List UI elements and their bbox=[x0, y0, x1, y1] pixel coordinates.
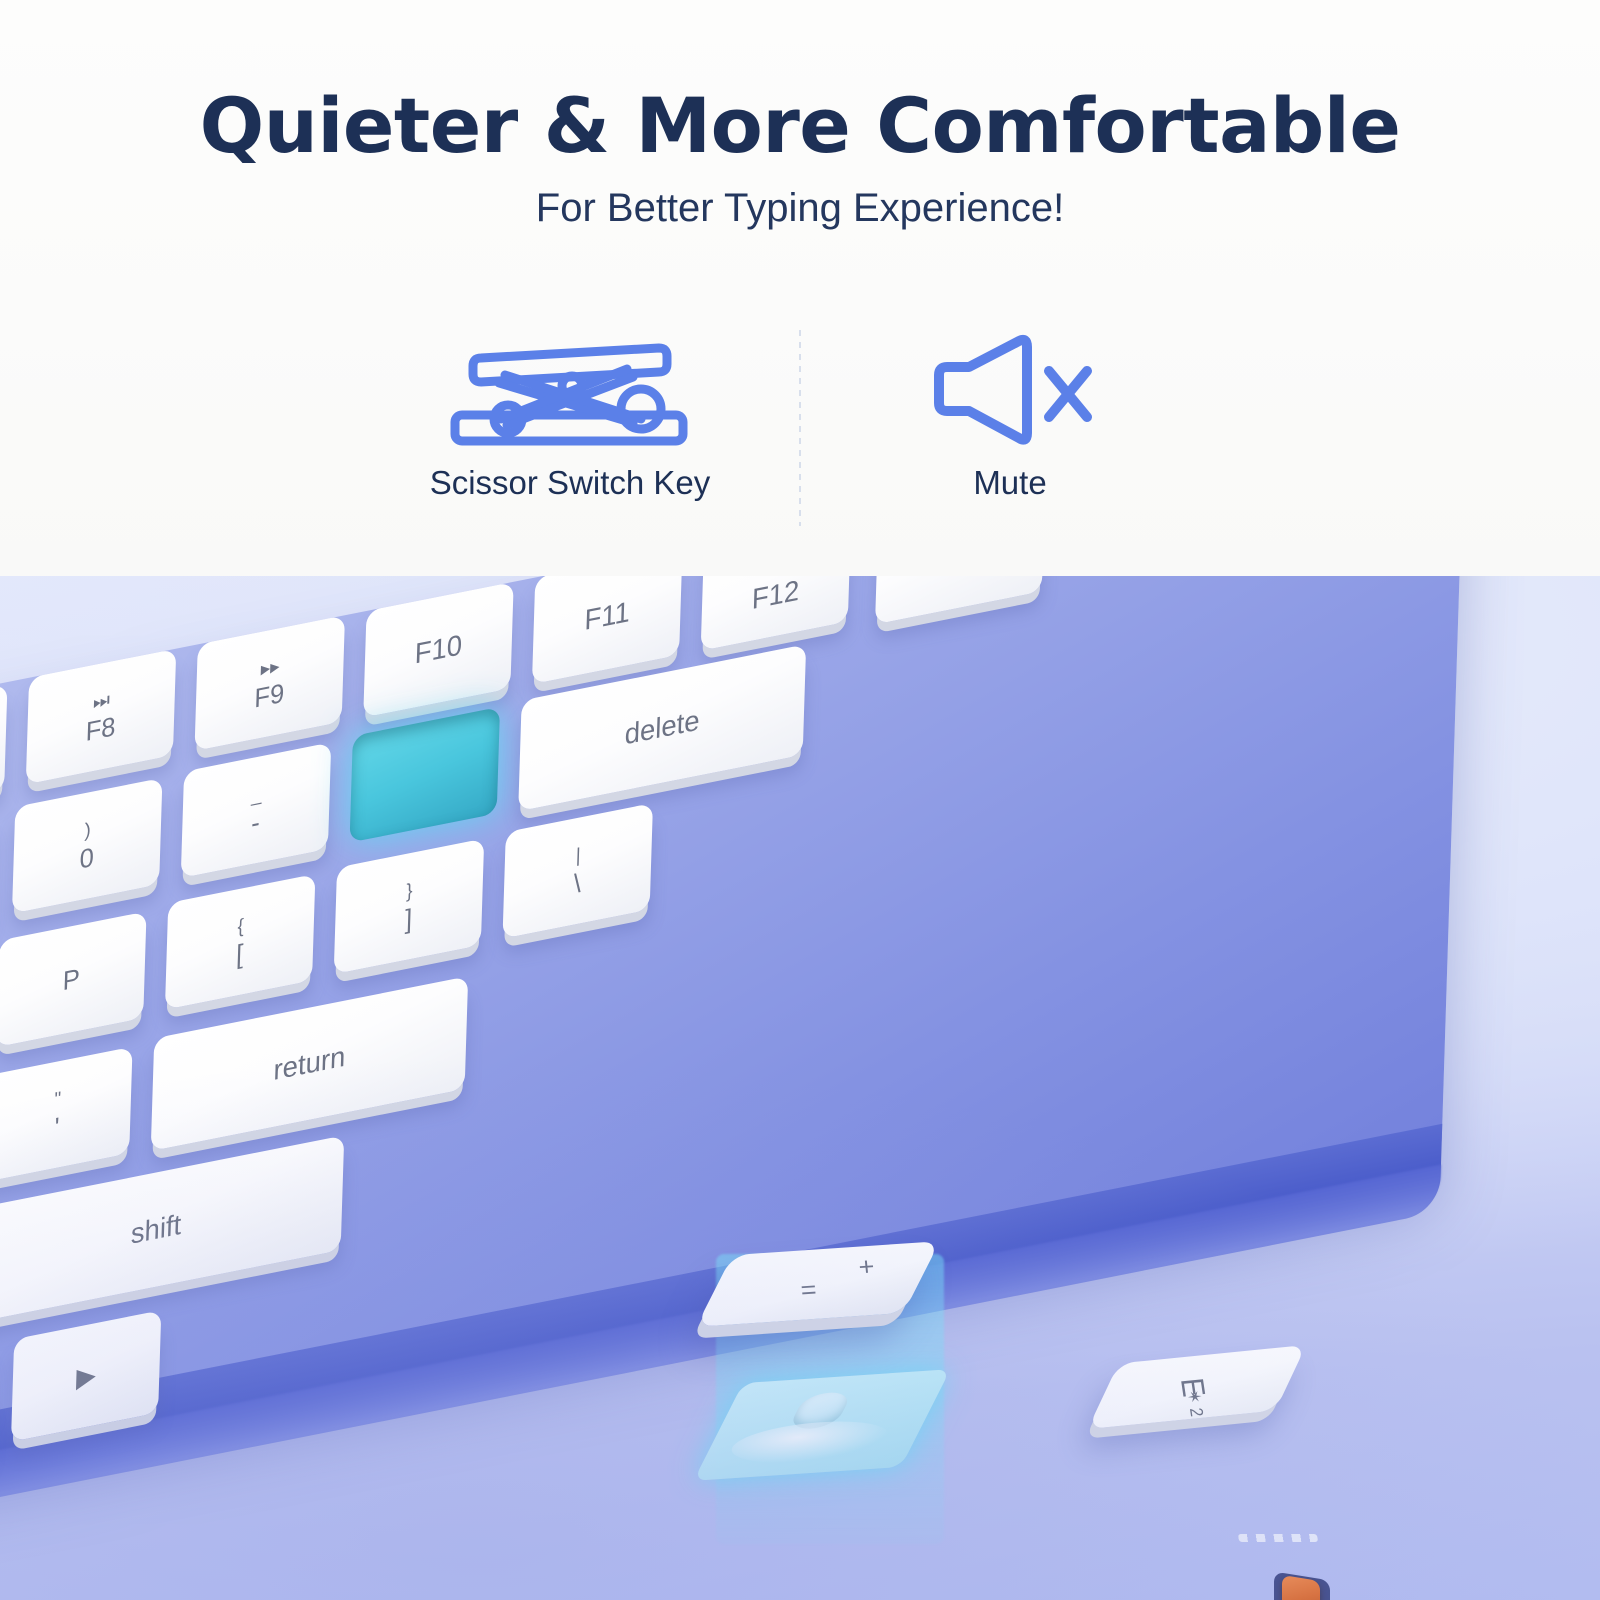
keyboard-key-sublegend: _ bbox=[251, 784, 262, 806]
keyboard-key-sublegend: ) bbox=[84, 820, 91, 841]
keyboard-key: )0 bbox=[12, 778, 162, 914]
feature-label-scissor-switch: Scissor Switch Key bbox=[430, 464, 711, 502]
feature-header-panel: Quieter & More Comfortable For Better Ty… bbox=[0, 0, 1600, 576]
keyboard-key: ὐaF12 bbox=[701, 576, 851, 651]
status-led-strip bbox=[1238, 1534, 1318, 1542]
keyboard-key-legend: [ bbox=[236, 940, 244, 968]
keyboard-key: F10 bbox=[363, 582, 513, 718]
keyboard-key-sublegend: " bbox=[54, 1089, 61, 1110]
exploded-keycap-legend-plus: + bbox=[857, 1251, 876, 1282]
keyboard-key-legend: ] bbox=[405, 904, 413, 932]
product-photo: ♫F5⏮F6⏯F7⏭F8▸▸F9F10F11ὐaF12ὑ2&7*8(9)0_-d… bbox=[0, 576, 1600, 1600]
keyboard-key-legend: F10 bbox=[414, 631, 462, 669]
feature-label-mute: Mute bbox=[973, 464, 1046, 502]
page-title: Quieter & More Comfortable bbox=[0, 86, 1600, 167]
keyboard-key: ▸▸F9 bbox=[194, 615, 344, 751]
keyboard-key-legend: 0 bbox=[79, 843, 94, 872]
empty-key-socket bbox=[350, 707, 500, 843]
feature-divider bbox=[799, 330, 801, 526]
keyboard-key-sublegend: { bbox=[237, 916, 244, 937]
feature-scissor-switch: Scissor Switch Key bbox=[360, 330, 780, 540]
mute-speaker-icon bbox=[923, 330, 1098, 450]
keyboard-key-sublegend: ▸▸ bbox=[261, 656, 280, 679]
keyboard-key: F11 bbox=[532, 576, 682, 684]
keyboard-key: }] bbox=[334, 838, 484, 974]
keyboard-key-legend: - bbox=[251, 808, 260, 836]
keyboard-key-legend: F11 bbox=[584, 597, 630, 635]
keyboard-key-legend: shift bbox=[130, 1210, 181, 1249]
keyboard-key-legend: F12 bbox=[751, 576, 799, 614]
keyboard-key-sublegend: | bbox=[575, 845, 580, 865]
keyboard-key-sublegend: ⏭ bbox=[93, 690, 110, 713]
scissor-switch-icon bbox=[445, 330, 695, 450]
keyboard-key-legend: ' bbox=[54, 1113, 60, 1141]
keyboard-key-sublegend: } bbox=[406, 881, 413, 902]
product-marketing-image: Quieter & More Comfortable For Better Ty… bbox=[0, 0, 1600, 1600]
keyboard-key-legend: ▶ bbox=[76, 1361, 96, 1392]
keyboard-key-legend: \ bbox=[573, 869, 581, 897]
keyboard-key: ⏭F8 bbox=[26, 649, 176, 785]
keyboard-key: ⏯F7 bbox=[0, 684, 7, 820]
keyboard-key-legend: delete bbox=[624, 706, 700, 750]
keyboard-key: _- bbox=[181, 742, 331, 878]
exploded-keycap-legend-equals: = bbox=[799, 1275, 818, 1306]
loose-keycap-sublabel: ✶ 2 bbox=[1182, 1389, 1207, 1418]
keyboard-key-legend: return bbox=[273, 1042, 346, 1085]
keyboard-key: ὑ2 bbox=[875, 576, 1045, 624]
page-subtitle: For Better Typing Experience! bbox=[0, 186, 1600, 231]
keyboard-key-legend: F9 bbox=[254, 679, 285, 712]
keyboard-key: |\ bbox=[502, 803, 652, 939]
keyboard-key: {[ bbox=[165, 874, 315, 1010]
keyboard-key: P bbox=[0, 911, 147, 1047]
keyboard-key: "' bbox=[0, 1047, 133, 1183]
feature-mute: Mute bbox=[800, 330, 1220, 540]
keyboard-key: ▶ bbox=[11, 1310, 161, 1442]
keyboard-key-legend: F8 bbox=[85, 712, 116, 745]
keyboard-key-legend: P bbox=[62, 964, 80, 994]
